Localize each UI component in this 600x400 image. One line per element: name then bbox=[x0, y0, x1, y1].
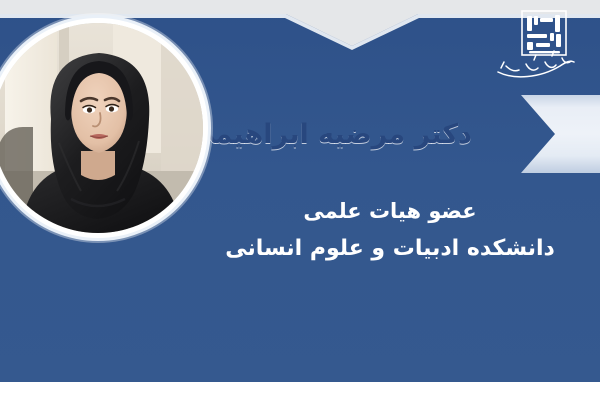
faculty-profile-card: دکتر مرضیه ابراهیمی عضو هیات علمی دانشکد… bbox=[0, 0, 600, 400]
bottom-white-strip bbox=[0, 382, 600, 400]
faculty-role: عضو هیات علمی bbox=[180, 196, 600, 228]
portrait-photo bbox=[0, 23, 203, 233]
faculty-department: دانشکده ادبیات و علوم انسانی bbox=[180, 232, 600, 265]
university-logo bbox=[488, 6, 588, 86]
faculty-subtitle: عضو هیات علمی دانشکده ادبیات و علوم انسا… bbox=[180, 196, 600, 265]
